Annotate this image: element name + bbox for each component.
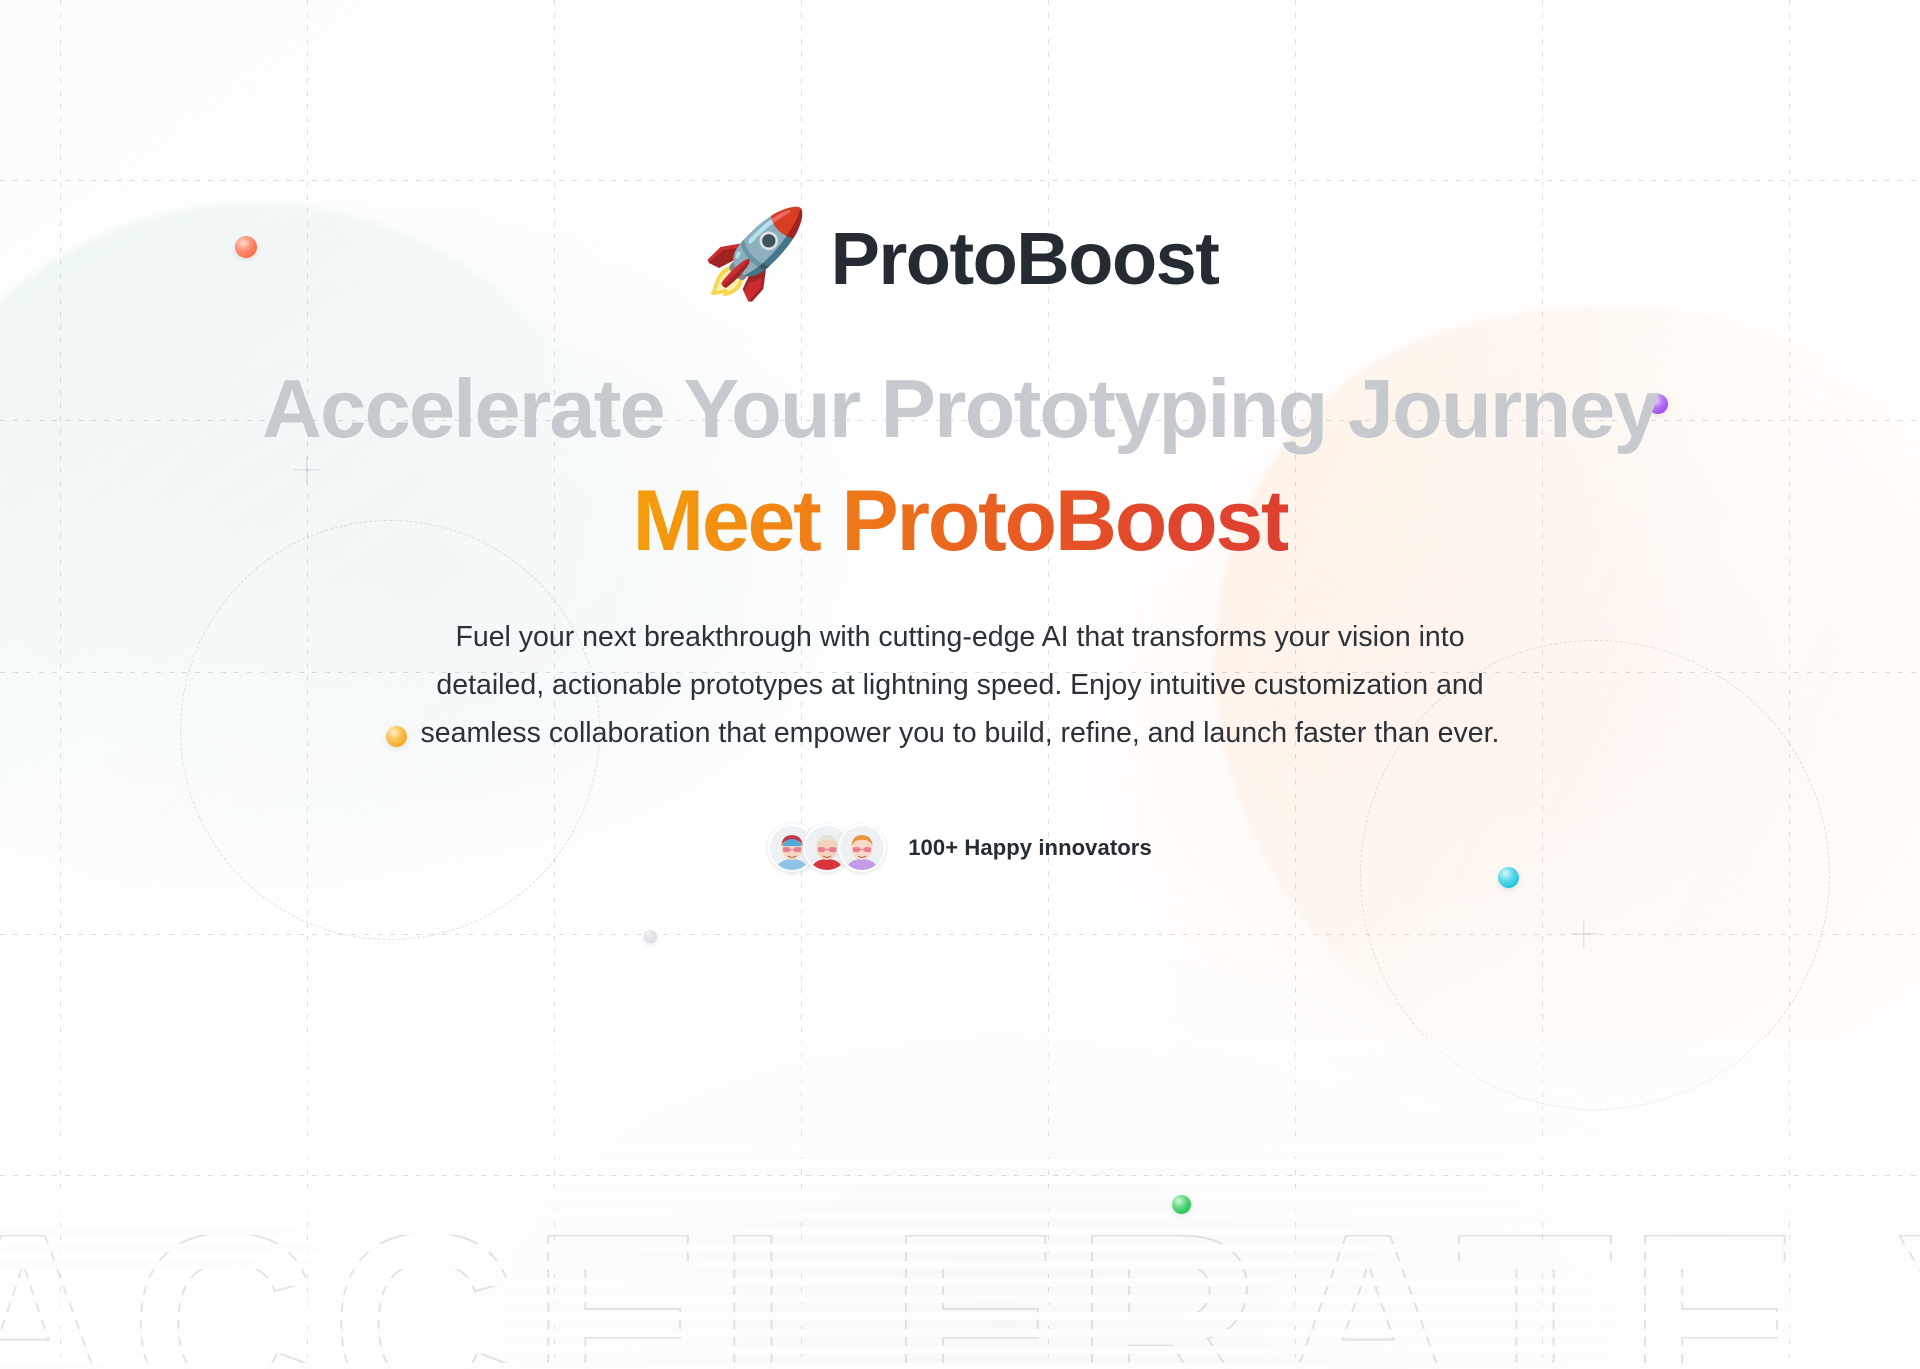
rocket-icon: 🚀: [702, 211, 809, 297]
decorative-dot-green: [1172, 1195, 1191, 1214]
brand-logo[interactable]: 🚀 ProtoBoost: [0, 215, 1920, 301]
hero-accent-headline: Meet ProtoBoost: [632, 472, 1287, 570]
brand-name: ProtoBoost: [831, 216, 1219, 301]
hero-page: ACCELERATE YOUR 🚀 ProtoBoost Accelerate …: [0, 0, 1920, 1369]
background-watermark-dash-mask: [0, 1133, 1920, 1369]
avatar-innovator-3[interactable]: [838, 824, 886, 872]
avatar-group[interactable]: [768, 824, 886, 872]
decorative-dot-gray: [644, 930, 657, 943]
grid-line-horizontal-3: [0, 934, 1920, 935]
grid-crosshair-right: [1571, 921, 1597, 947]
background-watermark-text: ACCELERATE YOUR: [0, 1195, 1920, 1369]
social-proof-label: 100+ Happy innovators: [908, 835, 1152, 861]
hero-paragraph: Fuel your next breakthrough with cutting…: [410, 614, 1510, 758]
background-watermark: ACCELERATE YOUR: [0, 1195, 1920, 1369]
hero-content: 🚀 ProtoBoost Accelerate Your Prototyping…: [0, 0, 1920, 872]
hero-ghost-headline: Accelerate Your Prototyping Journey: [0, 363, 1920, 456]
background-watermark-fade: [0, 1039, 1920, 1369]
social-proof: 100+ Happy innovators: [0, 824, 1920, 872]
avatar-face-icon: [840, 826, 884, 870]
grid-line-horizontal-4: [0, 1175, 1920, 1176]
